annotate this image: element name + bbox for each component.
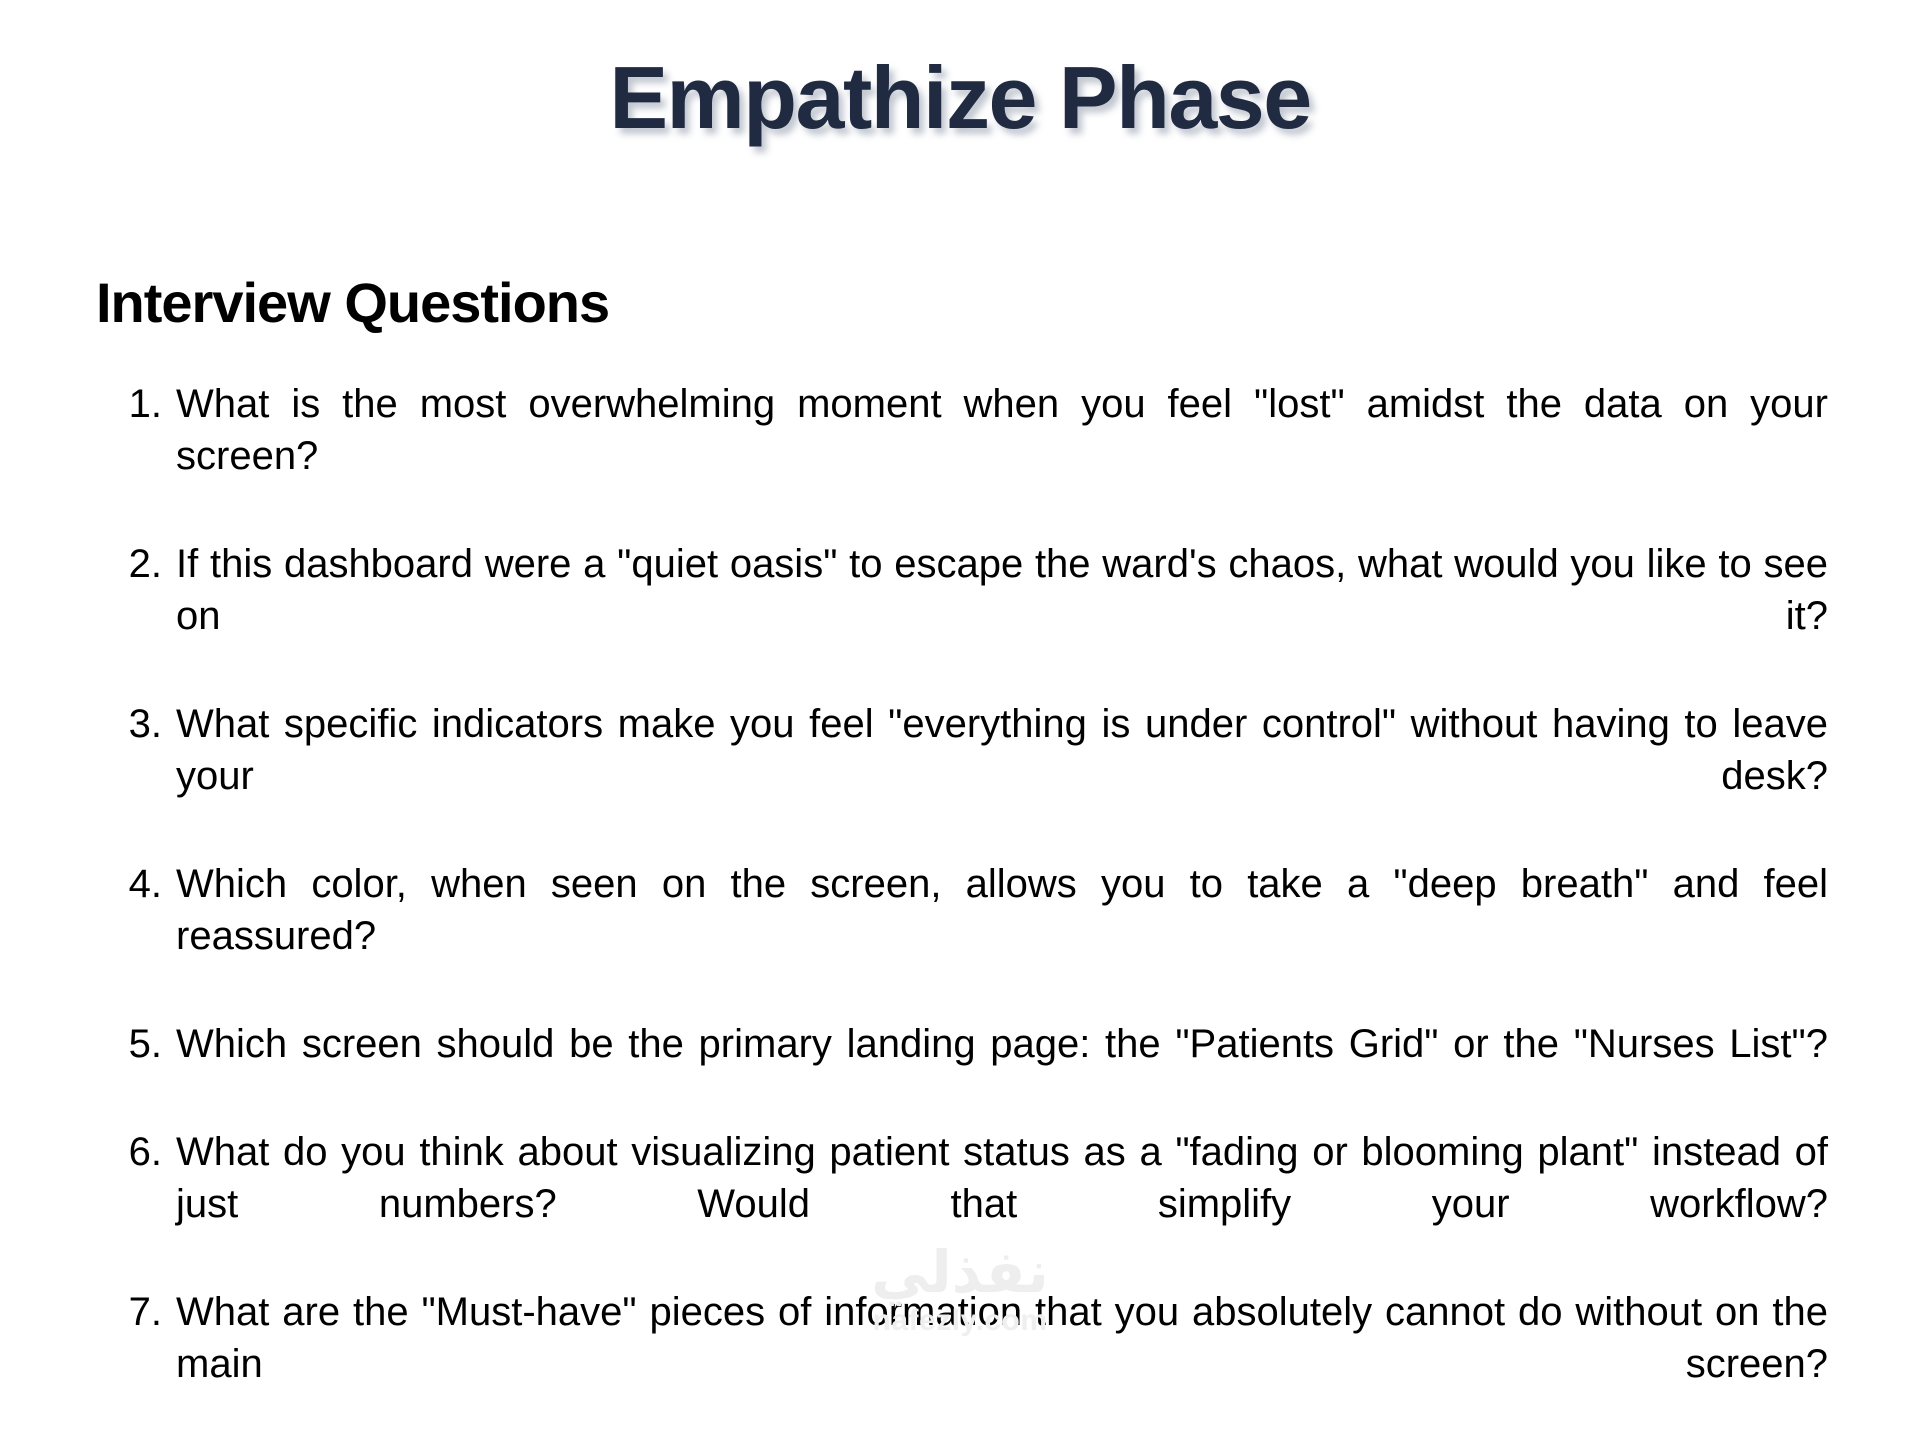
- list-item-text: What do you think about visualizing pati…: [162, 1126, 1830, 1282]
- list-item-number: 2.: [104, 538, 162, 590]
- list-item-text: Which color, when seen on the screen, al…: [162, 858, 1830, 1014]
- list-item: 7. What are the "Must-have" pieces of in…: [104, 1286, 1830, 1442]
- list-item-number: 1.: [104, 378, 162, 430]
- list-item-number: 4.: [104, 858, 162, 910]
- section-heading-interview-questions: Interview Questions: [0, 144, 1920, 334]
- list-item: 3. What specific indicators make you fee…: [104, 698, 1830, 854]
- list-item: 1. What is the most overwhelming moment …: [104, 378, 1830, 534]
- list-item: 2. If this dashboard were a "quiet oasis…: [104, 538, 1830, 694]
- page-title: Empathize Phase: [609, 52, 1310, 144]
- slide-canvas: Empathize Phase Interview Questions 1. W…: [0, 0, 1920, 1353]
- list-item-number: 3.: [104, 698, 162, 750]
- list-item-text: What is the most overwhelming moment whe…: [162, 378, 1830, 534]
- list-item: 4. Which color, when seen on the screen,…: [104, 858, 1830, 1014]
- list-item-number: 6.: [104, 1126, 162, 1178]
- interview-questions-list: 1. What is the most overwhelming moment …: [0, 334, 1920, 1442]
- list-item-text: What specific indicators make you feel "…: [162, 698, 1830, 854]
- list-item: 5. Which screen should be the primary la…: [104, 1018, 1830, 1122]
- list-item-text: If this dashboard were a "quiet oasis" t…: [162, 538, 1830, 694]
- title-container: Empathize Phase: [0, 0, 1920, 144]
- list-item-text: What are the "Must-have" pieces of infor…: [162, 1286, 1830, 1442]
- list-item: 6. What do you think about visualizing p…: [104, 1126, 1830, 1282]
- list-item-number: 7.: [104, 1286, 162, 1338]
- list-item-number: 5.: [104, 1018, 162, 1070]
- list-item-text: Which screen should be the primary landi…: [162, 1018, 1830, 1122]
